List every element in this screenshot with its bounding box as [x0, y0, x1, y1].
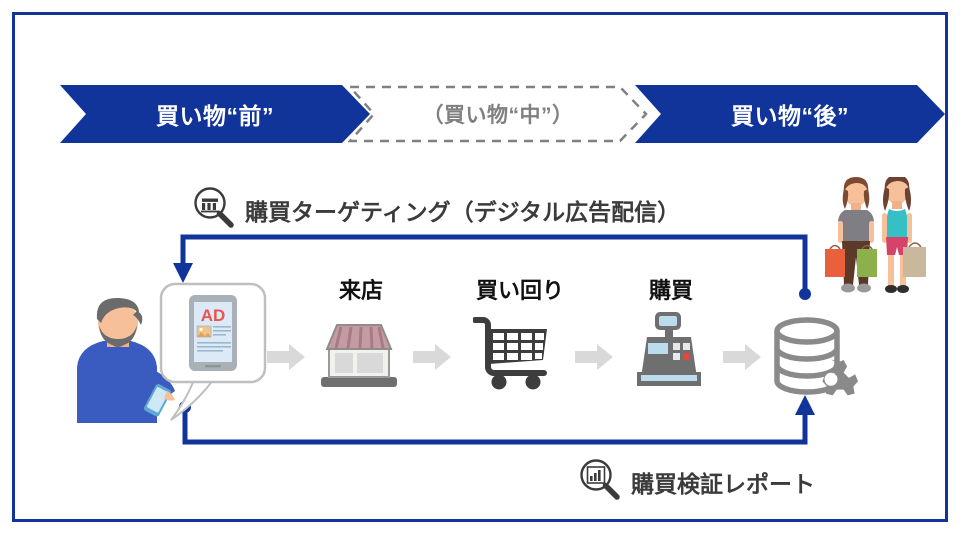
woman-right	[882, 177, 926, 293]
ad-speech-bubble: AD	[155, 280, 271, 435]
stage-arrow-2	[413, 344, 451, 375]
label-purchase-verification-report: 購買検証レポート	[577, 457, 815, 506]
slide-canvas: 買い物“前” （買い物“中”） 買い物“後”	[0, 0, 960, 534]
targeting-label-text: 購買ターゲティング（デジタル広告配信）	[245, 193, 680, 227]
storefront-icon	[313, 315, 405, 396]
stage-arrow-1	[267, 344, 305, 375]
banner-shopping-after[interactable]: 買い物“後”	[635, 85, 945, 143]
database-gear-icon	[767, 315, 859, 412]
connector-report	[179, 395, 815, 442]
magnifier-chart-icon	[577, 457, 621, 506]
slide-frame: 買い物“前” （買い物“中”） 買い物“後”	[12, 12, 948, 522]
magnifier-store-icon	[191, 185, 235, 234]
banner-during-label: （買い物“中”）	[423, 99, 574, 129]
label-purchase-targeting: 購買ターゲティング（デジタル広告配信）	[191, 185, 680, 234]
cash-register-icon	[629, 310, 709, 399]
stage-label-browse: 買い回り	[455, 273, 585, 305]
banner-before-label: 買い物“前”	[156, 97, 274, 131]
stage-arrow-4	[723, 344, 761, 375]
report-label-text: 購買検証レポート	[631, 465, 815, 499]
banner-after-label: 買い物“後”	[731, 97, 849, 131]
svg-text:AD: AD	[201, 306, 226, 325]
shopping-cart-icon	[473, 312, 559, 397]
stage-label-visit: 来店	[315, 273, 407, 305]
stage-label-buy: 購買	[625, 273, 717, 305]
woman-left	[825, 177, 877, 293]
two-women-shoppers-illustration	[821, 177, 933, 310]
banner-shopping-during[interactable]: （買い物“中”）	[348, 85, 648, 143]
banner-shopping-before[interactable]: 買い物“前”	[60, 85, 370, 143]
stage-arrow-3	[575, 344, 613, 375]
